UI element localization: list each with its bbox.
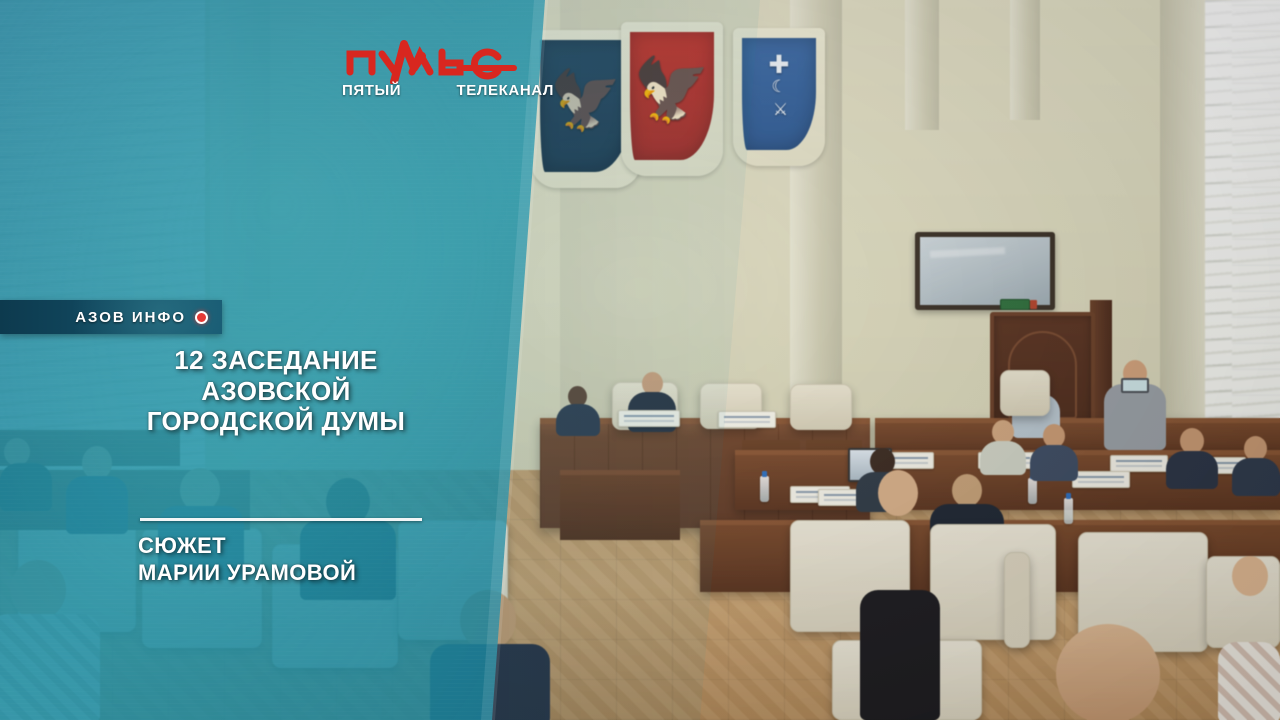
nameplate [1110,455,1168,472]
story-title-line-2: АЗОВСКОЙ [26,376,526,407]
nameplate [618,410,680,427]
azov-emblem-charges: ✚ ☾ ⚔ [742,50,816,120]
water-bottle [1064,498,1073,524]
byline-divider [140,518,422,521]
audience-attendee [430,590,550,720]
azov-city-emblem: ✚ ☾ ⚔ [742,38,816,150]
deputy [1232,436,1280,492]
deputy [1030,424,1078,478]
foreground-bald-man [1046,624,1166,720]
wall-pilaster [1010,0,1040,120]
foreground-woman [1218,556,1280,720]
byline-line-1: СЮЖЕТ [138,533,568,560]
program-badge: АЗОВ ИНФО [0,300,222,334]
water-bottle [760,476,769,502]
smartphone [1121,378,1149,393]
story-title: 12 ЗАСЕДАНИЕ АЗОВСКОЙ ГОРОДСКОЙ ДУМЫ [26,345,526,437]
channel-subtitle-left: ПЯТЫЙ [338,82,401,99]
crescent-icon: ☾ [742,76,816,97]
audience-chair [1004,552,1030,648]
audience-attendee [0,438,52,508]
audience-chair [930,524,1056,640]
foreground-attendee [856,470,944,720]
story-title-line-3: ГОРОДСКОЙ ДУМЫ [26,406,526,437]
audience-attendee [0,560,100,720]
wall-pilaster [1160,0,1206,450]
nameplate [718,411,776,428]
exit-sign-icon [1000,299,1030,310]
deputy [980,420,1026,472]
presidium-chair [790,384,852,430]
deputy [1166,428,1218,486]
nameplate [1072,471,1130,488]
rostov-eagle-icon: 🦅 [550,72,622,130]
reporter-byline: СЮЖЕТ МАРИИ УРАМОВОЙ [138,533,568,587]
wall-television [915,232,1055,310]
double-headed-eagle-icon: 🦅 [633,60,710,122]
byline-line-2: МАРИИ УРАМОВОЙ [138,560,568,587]
audience-attendee [66,446,128,532]
presidium-attendee [556,386,600,434]
channel-logo: ПЯТЫЙ ТЕЛЕКАНАЛ [338,38,556,110]
russian-federation-emblem: 🦅 [630,32,714,160]
water-bottle [1028,478,1037,504]
story-title-line-1: 12 ЗАСЕДАНИЕ [26,345,526,376]
chair [1000,370,1050,416]
wall-pilaster [210,0,270,300]
wall-pilaster [905,0,939,130]
channel-subtitle-right: ТЕЛЕКАНАЛ [457,82,556,99]
live-dot-icon [195,311,208,324]
program-badge-label: АЗОВ ИНФО [75,309,195,326]
broadcast-frame: 🦅 🦅 ✚ ☾ ⚔ [0,0,1280,720]
channel-wordmark-icon [338,38,556,84]
standing-man-with-phone [1104,360,1166,450]
crossed-sabers-icon: ⚔ [742,99,816,120]
channel-subtitle: ПЯТЫЙ ТЕЛЕКАНАЛ [338,82,556,99]
rostrum [560,470,680,540]
